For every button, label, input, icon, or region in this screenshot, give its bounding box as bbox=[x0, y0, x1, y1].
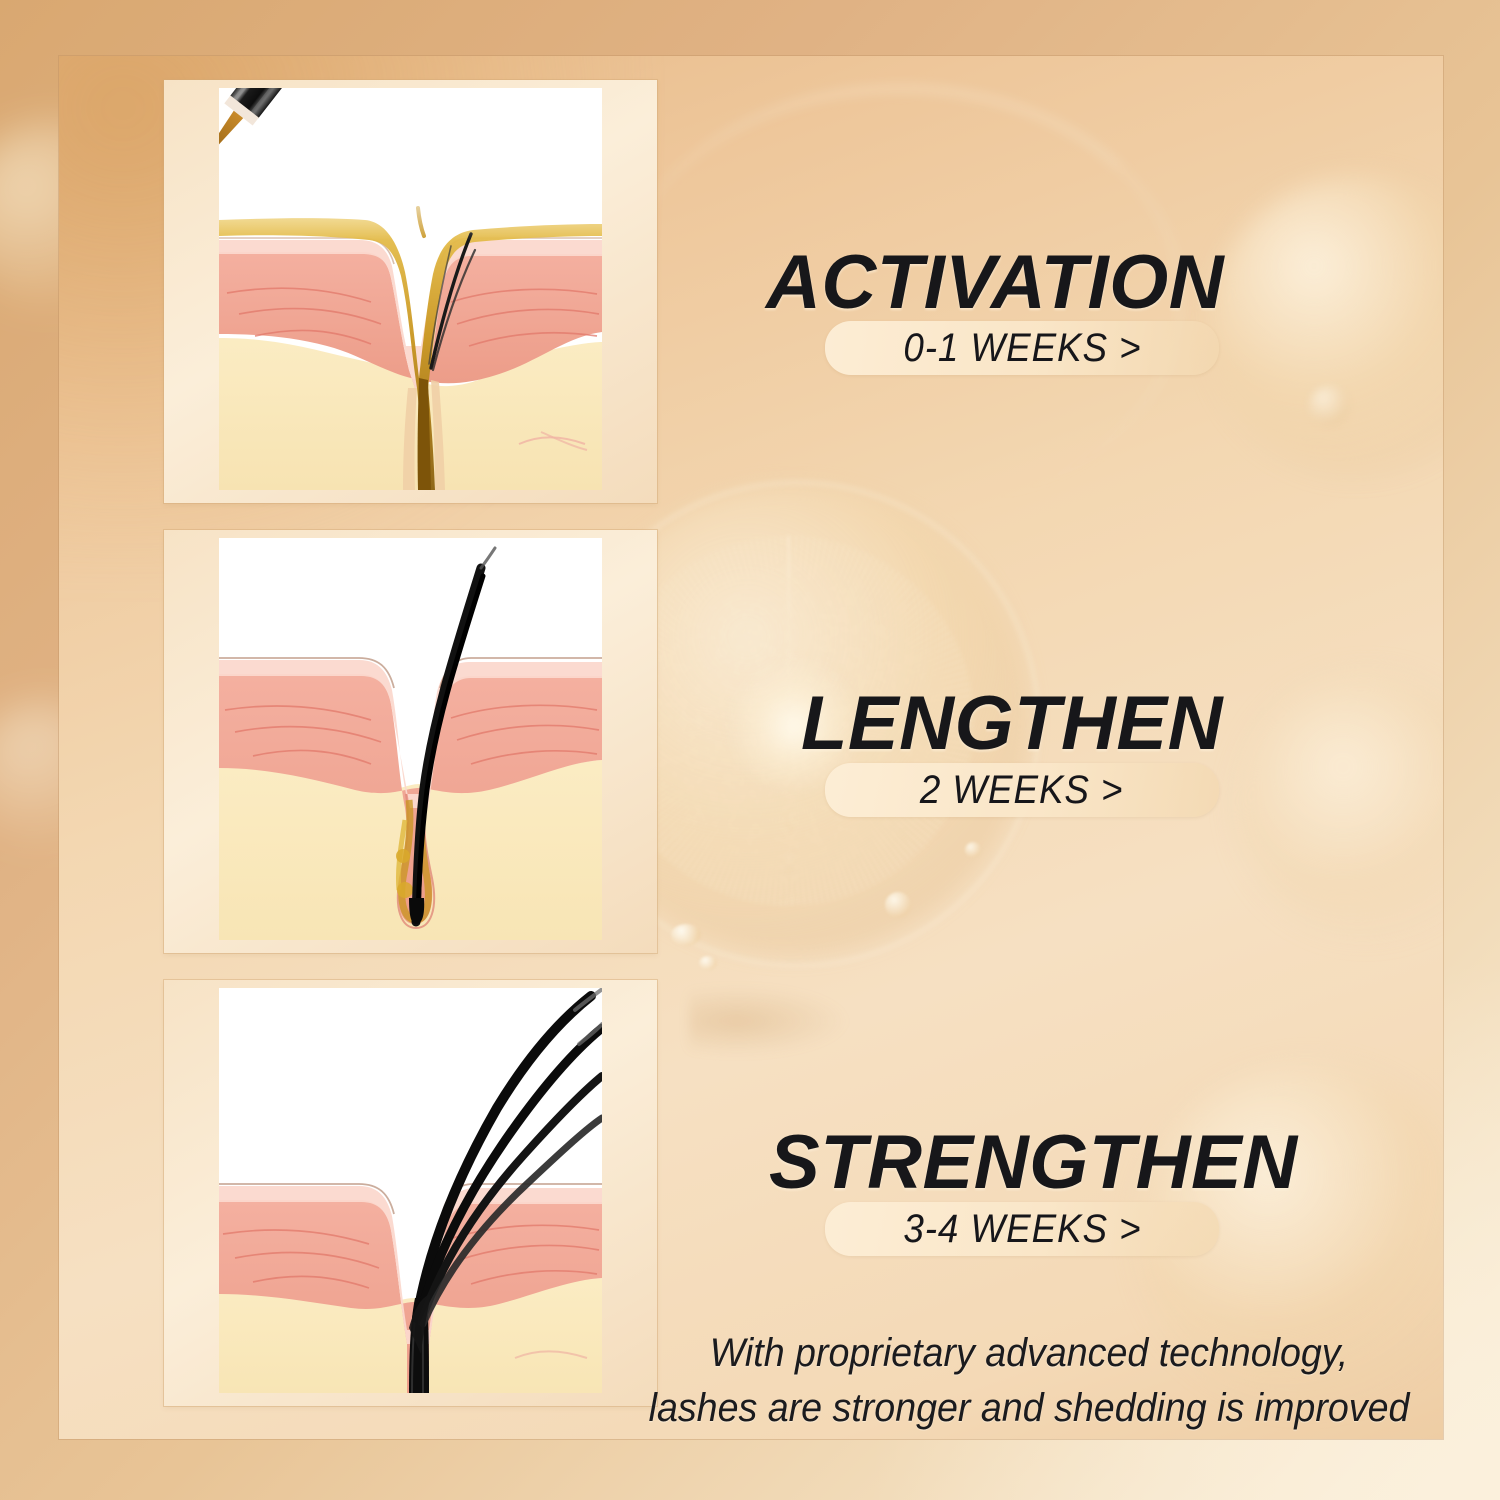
stage-badge-lengthen[interactable]: 2 WEEKS > bbox=[825, 763, 1219, 817]
illustration-frame-strengthen bbox=[164, 980, 657, 1406]
background-bubble-mid-right bbox=[1239, 676, 1443, 936]
follicle-serum-application-diagram bbox=[219, 88, 602, 490]
illustration-frame-lengthen bbox=[164, 530, 657, 953]
follicle-single-lash-diagram bbox=[219, 538, 602, 940]
stage-badge-strengthen-label: 3-4 WEEKS > bbox=[903, 1207, 1141, 1252]
footnote: With proprietary advanced technology, la… bbox=[619, 1326, 1439, 1436]
background-droplet-4 bbox=[965, 842, 981, 858]
stage-badge-activation-label: 0-1 WEEKS > bbox=[903, 326, 1141, 371]
stage-badge-activation[interactable]: 0-1 WEEKS > bbox=[825, 321, 1219, 375]
background-droplet-6 bbox=[1309, 386, 1349, 426]
background-droplet-3 bbox=[885, 892, 911, 918]
footnote-line-2: lashes are stronger and shedding is impr… bbox=[644, 1381, 1415, 1436]
illustration-canvas-activation bbox=[219, 88, 602, 490]
background-droplet-2 bbox=[699, 956, 717, 970]
inner-panel: ACTIVATION 0-1 WEEKS > LENGTHEN 2 WEEKS … bbox=[59, 56, 1443, 1439]
background-droplet-1 bbox=[671, 924, 701, 946]
stage-badge-strengthen[interactable]: 3-4 WEEKS > bbox=[825, 1202, 1219, 1256]
background-bubble-top-right bbox=[1209, 176, 1443, 476]
infographic-root: ACTIVATION 0-1 WEEKS > LENGTHEN 2 WEEKS … bbox=[0, 0, 1500, 1500]
follicle-multiple-lashes-diagram bbox=[219, 988, 602, 1393]
stage-title-lengthen: LENGTHEN bbox=[801, 680, 1223, 767]
stage-title-activation: ACTIVATION bbox=[766, 239, 1224, 326]
stage-title-strengthen: STRENGTHEN bbox=[769, 1119, 1298, 1206]
footnote-line-1: With proprietary advanced technology, bbox=[644, 1326, 1415, 1381]
background-faint-marks bbox=[689, 986, 849, 1056]
illustration-frame-activation bbox=[164, 80, 657, 503]
illustration-canvas-strengthen bbox=[219, 988, 602, 1393]
stage-badge-lengthen-label: 2 WEEKS > bbox=[920, 768, 1124, 813]
illustration-canvas-lengthen bbox=[219, 538, 602, 940]
